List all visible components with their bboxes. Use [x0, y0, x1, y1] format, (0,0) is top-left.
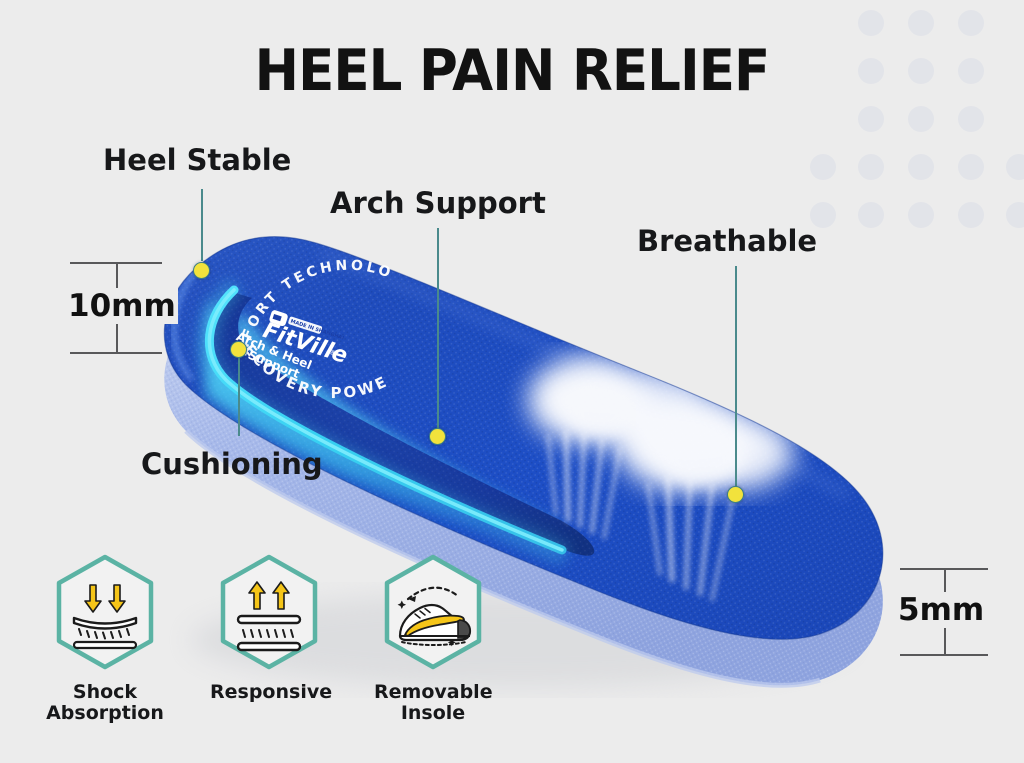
page-title: HEEL PAIN RELIEF	[36, 38, 988, 104]
callout-leader-line-heel-stable	[201, 189, 203, 261]
hex-badge-responsive	[214, 552, 324, 672]
callout-label-heel-stable: Heel Stable	[103, 143, 291, 177]
callout-label-arch-support: Arch Support	[330, 186, 546, 220]
feature-removable-insole[interactable]: Removable Insole	[374, 552, 492, 725]
callout-leader-line-arch-support	[437, 228, 439, 430]
callout-dot-cushioning[interactable]	[230, 341, 247, 358]
hex-badge-shock-absorption	[50, 552, 160, 672]
dimension-value-toe-thickness: 5mm	[896, 592, 986, 628]
hex-badge-removable-insole	[378, 552, 488, 672]
callout-label-cushioning: Cushioning	[141, 447, 323, 481]
infographic-canvas: COMFORT TECHNOLOGY RECOVERY POWER MADE I…	[0, 0, 1024, 758]
dimension-value-heel-thickness: 10mm	[66, 288, 178, 324]
feature-responsive[interactable]: Responsive	[210, 552, 328, 725]
callout-leader-line-cushioning	[238, 356, 240, 436]
feature-badge-row: Shock Absorption	[46, 552, 492, 725]
callout-dot-breathable[interactable]	[727, 486, 744, 503]
feature-label-removable-insole: Removable Insole	[374, 682, 492, 725]
dimension-heel-thickness: 10mm	[70, 262, 162, 354]
feature-label-shock-absorption: Shock Absorption	[46, 682, 164, 725]
feature-shock-absorption[interactable]: Shock Absorption	[46, 552, 164, 725]
callout-dot-heel-stable[interactable]	[193, 262, 210, 279]
dimension-toe-thickness: 5mm	[900, 568, 988, 656]
feature-label-responsive: Responsive	[210, 682, 328, 703]
dimension-cap-bottom	[70, 352, 162, 354]
callout-leader-line-breathable	[735, 266, 737, 488]
callout-dot-arch-support[interactable]	[429, 428, 446, 445]
callout-label-breathable: Breathable	[637, 224, 817, 258]
dimension-cap-bottom	[900, 654, 988, 656]
